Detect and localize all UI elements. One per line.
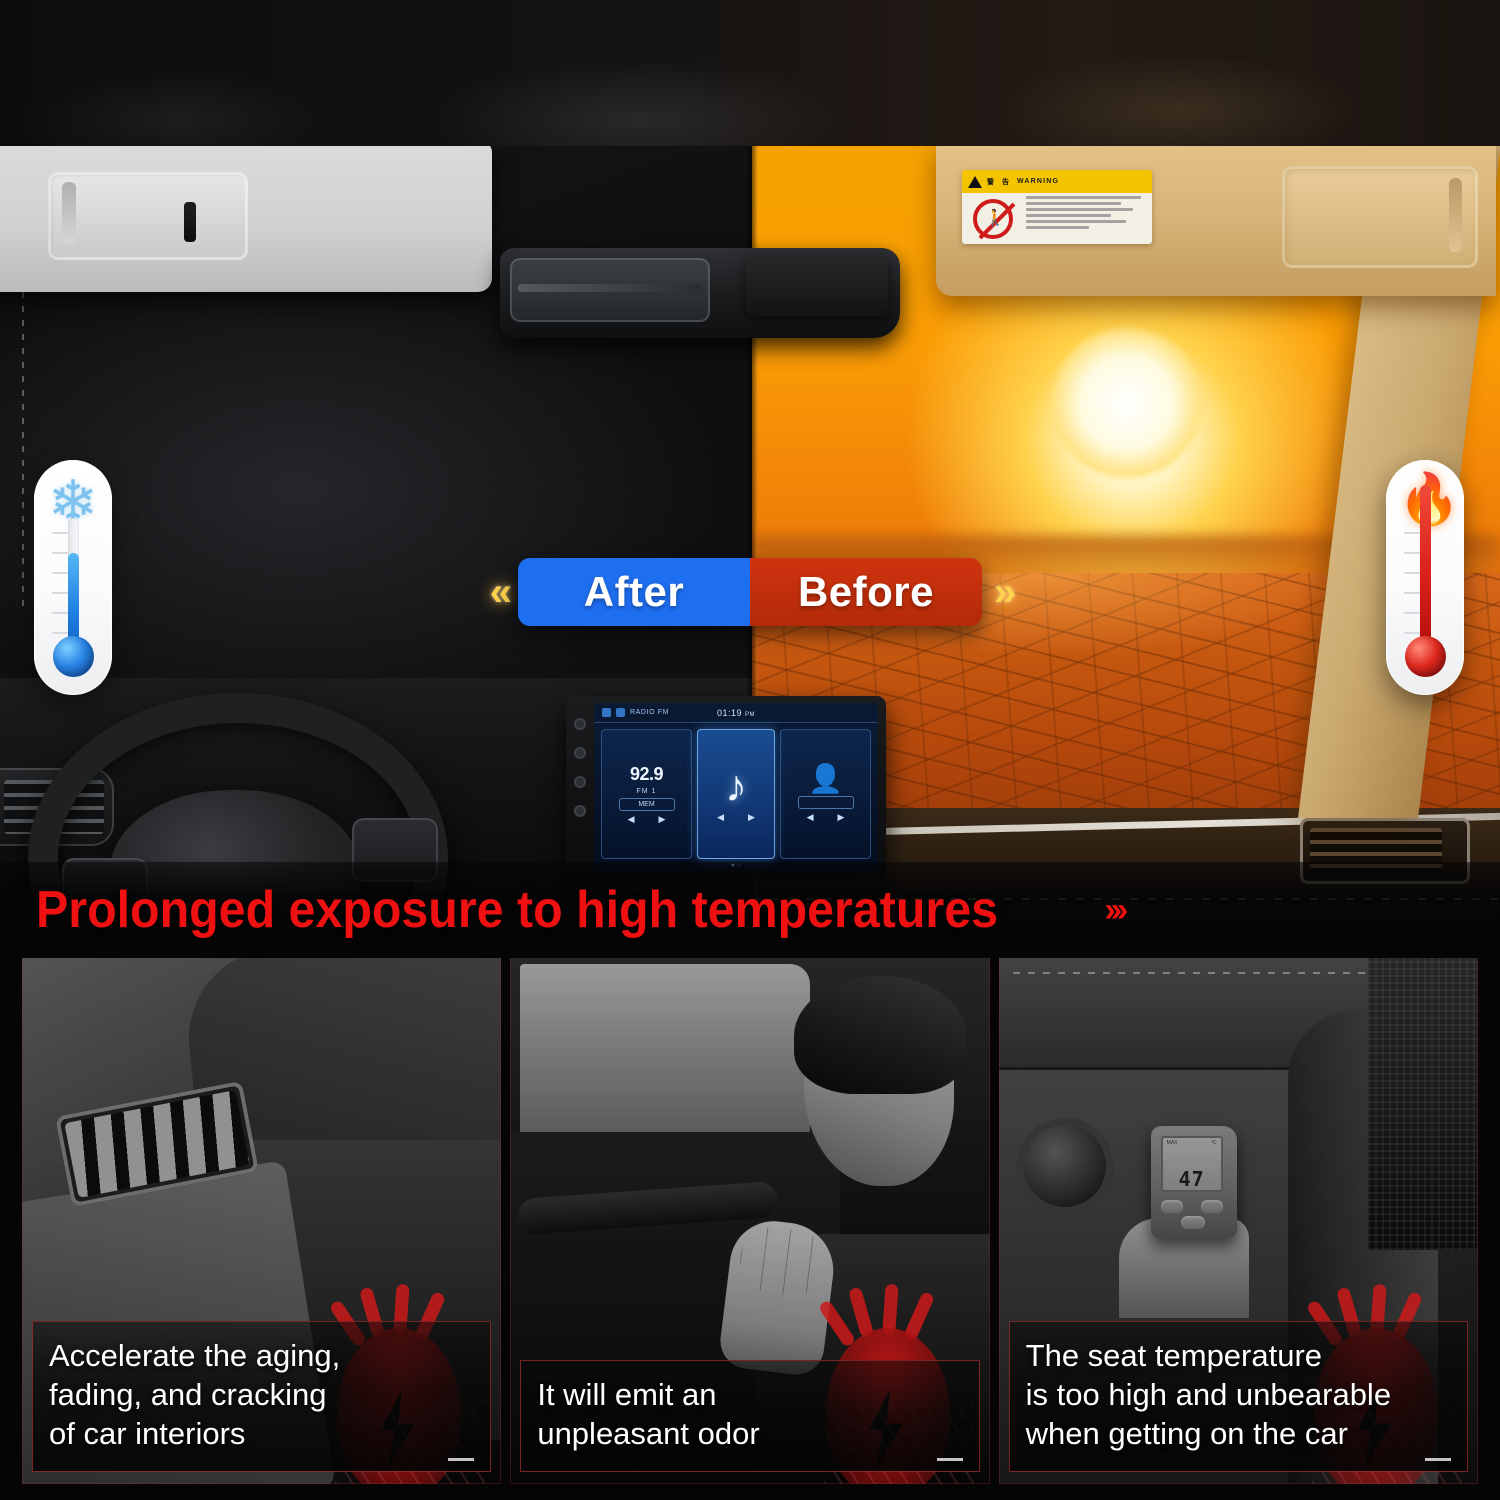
panel-unpleasant-odor: It will emit an unpleasant odor [510,950,989,1484]
panel-1-caption: Accelerate the aging, fading, and cracki… [32,1321,491,1472]
radio-card[interactable]: 92.9 FM 1 MEM ◀ ▶ [601,729,692,859]
music-note-icon: ♪ [725,765,747,809]
menu-button-icon[interactable] [574,776,586,788]
seek-next-icon[interactable]: ▶ [659,814,666,825]
phone-nav-controls[interactable]: ◀ ▶ [807,812,845,823]
subhead-chevrons-icon: ››› [1104,891,1123,930]
caption-line: fading, and cracking [49,1375,474,1414]
rearview-mirror [500,248,900,338]
caption-line: The seat temperature [1026,1336,1451,1375]
after-label: After [518,558,750,626]
panel-2-caption: It will emit an unpleasant odor [520,1360,979,1472]
head-unit-statusbar: RADIO FM 01:19 PM [594,703,878,723]
head-unit-clock: 01:19 PM [594,708,878,718]
ir-label-left: MAX [1167,1140,1178,1146]
caption-line: Accelerate the aging, [49,1336,474,1375]
sun-visor-cool [0,142,492,292]
phone-card[interactable]: 👤 ◀ ▶ [780,729,871,859]
volume-button-icon[interactable] [574,805,586,817]
ir-reading-value: 47 [1179,1169,1205,1189]
sun-visor-hot: 警 告 WARNING 🚶 [936,138,1496,296]
mirror-stem [184,202,196,242]
infotainment-head-unit[interactable]: RADIO FM 01:19 PM 92.9 FM 1 MEM ◀ ▶ [566,696,886,878]
dashcam-module [746,254,888,316]
caption-underscore [448,1458,474,1461]
warning-label-heading: WARNING [1017,178,1059,185]
before-after-badge: « After Before » [0,555,1500,629]
head-unit-cards: 92.9 FM 1 MEM ◀ ▶ ♪ ◀ ▶ [594,723,878,865]
visor-mirror-cover-hot [1282,166,1478,268]
no-child-seat-icon: 🚶 [962,193,1024,244]
radio-seek-controls[interactable]: ◀ ▶ [628,814,666,825]
subhead-band: Prolonged exposure to high temperatures … [0,862,1500,958]
car-window-shape [520,964,810,1134]
phone-next-icon[interactable]: ▶ [838,812,845,823]
ir-thermometer-gun: MAX ℃ 47 [1151,1126,1237,1238]
benefit-panels: Accelerate the aging, fading, and cracki… [0,950,1500,1500]
header-band [0,0,1500,146]
head-unit-side-buttons[interactable] [574,718,590,834]
head-unit-screen[interactable]: RADIO FM 01:19 PM 92.9 FM 1 MEM ◀ ▶ [594,703,878,871]
panel-interior-aging: Accelerate the aging, fading, and cracki… [22,950,501,1484]
panel-3-caption: The seat temperature is too high and unb… [1009,1321,1468,1472]
thermometer-cold-bulb [53,636,94,677]
media-prev-icon[interactable]: ◀ [717,812,724,823]
caption-line: unpleasant odor [537,1414,962,1453]
mirror-glass [510,258,710,322]
visor-mirror-cover [48,172,248,260]
chevron-right-icon: » [994,572,1010,612]
panel-hot-seat: MAX ℃ 47 [999,950,1478,1484]
seat-mesh-shape [1368,950,1478,1250]
radio-preset-chip[interactable]: MEM [619,798,675,811]
subhead-text: Prolonged exposure to high temperatures [36,884,998,936]
ir-thermometer-display: MAX ℃ 47 [1161,1136,1223,1192]
caption-underscore [1425,1458,1451,1461]
warning-label-cjk: 警 告 [987,177,1012,187]
phone-prev-icon[interactable]: ◀ [807,812,814,823]
windshield-sunshade [0,268,752,738]
caption-line: when getting on the car [1026,1414,1451,1453]
sun-icon [1052,328,1202,478]
home-button-icon[interactable] [574,747,586,759]
thermometer-hot-bulb [1405,636,1446,677]
person-hair-shape [794,976,966,1094]
caption-line: is too high and unbearable [1026,1375,1451,1414]
person-icon: 👤 [808,765,843,793]
product-infographic: 警 告 WARNING 🚶 [0,0,1500,1500]
ir-button-right [1201,1200,1223,1213]
caption-line: of car interiors [49,1414,474,1453]
before-after-hero: 警 告 WARNING 🚶 [0,118,1500,930]
wristwatch-shape [1017,1118,1113,1214]
ir-label-right: ℃ [1211,1140,1217,1146]
radio-frequency: 92.9 [630,764,663,785]
ir-button-center [1181,1216,1205,1229]
ir-button-left [1161,1200,1183,1213]
warning-triangle-icon [968,176,982,188]
media-card[interactable]: ♪ ◀ ▶ [697,729,775,859]
phone-chip[interactable] [798,796,854,809]
warning-label-header: 警 告 WARNING [962,170,1152,193]
warning-label-text [1024,193,1152,244]
caption-line: It will emit an [537,1375,962,1414]
media-transport-controls[interactable]: ◀ ▶ [717,812,755,823]
before-label: Before [750,558,982,626]
seek-prev-icon[interactable]: ◀ [628,814,635,825]
ir-display-labels: MAX ℃ [1167,1140,1217,1146]
caption-underscore [937,1458,963,1461]
media-next-icon[interactable]: ▶ [748,812,755,823]
visor-warning-label: 警 告 WARNING 🚶 [962,170,1152,244]
clock-ampm: PM [745,712,755,718]
power-button-icon[interactable] [574,718,586,730]
warning-label-body: 🚶 [962,193,1152,244]
chevron-left-icon: « [490,572,506,612]
clock-time: 01:19 [717,708,742,718]
radio-band: FM 1 [637,788,657,795]
